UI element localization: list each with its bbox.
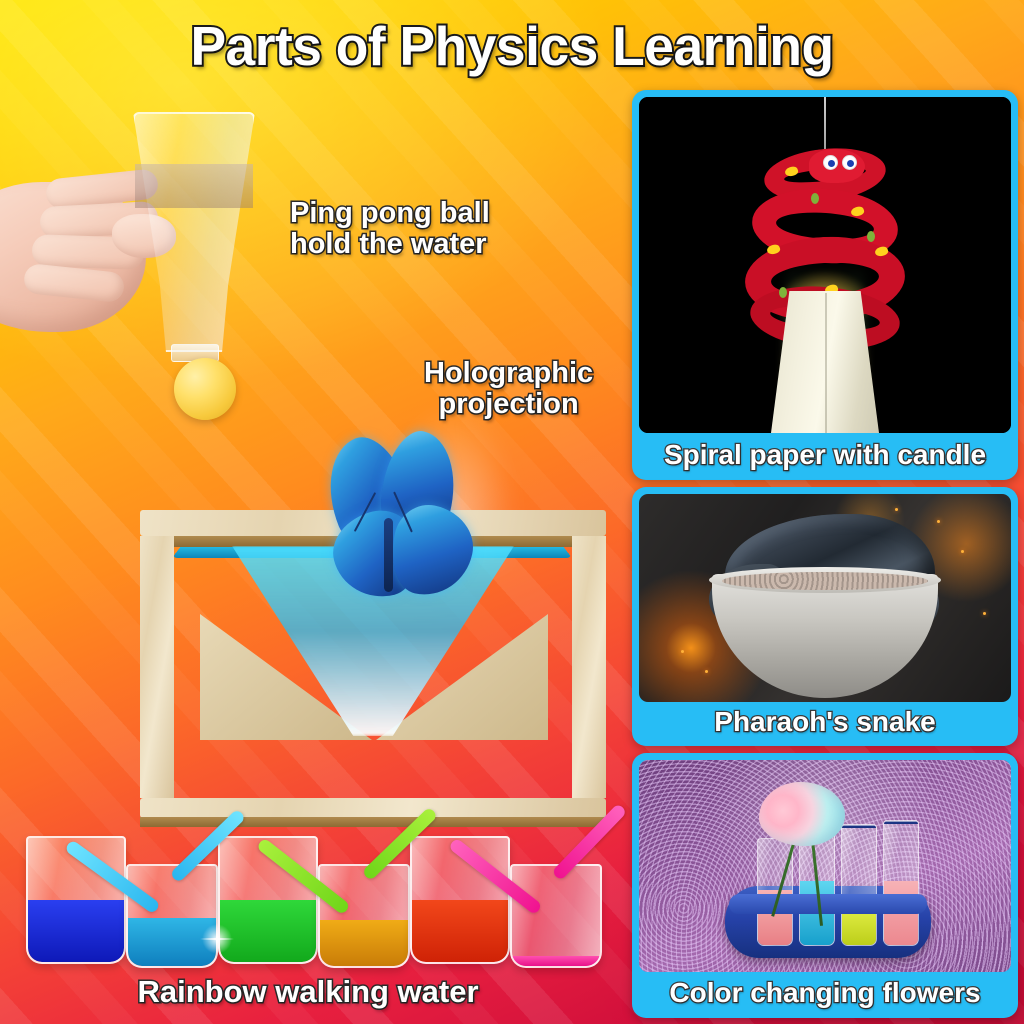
panel-pharaoh-photo	[639, 494, 1011, 702]
ember-spark-4	[961, 550, 964, 553]
rainbow-walking-water-label: Rainbow walking water	[0, 974, 616, 1010]
spiral-snake-scene	[639, 97, 1011, 433]
test-tube-3-cap-ring	[841, 824, 877, 826]
panel-pharaoh-caption: Pharaoh's snake	[632, 699, 1018, 746]
water-cup-3-liquid	[220, 900, 316, 962]
callout-holo-line1: Holographic	[424, 358, 593, 389]
rose-flower	[759, 782, 845, 846]
water-cup-4	[318, 864, 410, 968]
panel-spiral-caption: Spiral paper with candle	[632, 430, 1018, 480]
projector-base	[140, 798, 606, 818]
snake-eye-left	[823, 155, 838, 170]
page-title: Parts of Physics Learning	[15, 14, 1008, 78]
projector-leg-left	[140, 536, 174, 798]
test-tube-3	[841, 824, 877, 946]
panel-spiral-photo	[639, 97, 1011, 433]
ping-pong-ball-experiment-image	[0, 96, 320, 456]
ember-spark-6	[983, 612, 986, 615]
water-surface	[135, 164, 253, 208]
butterfly-hologram	[298, 432, 478, 612]
water-cup-6	[510, 864, 602, 968]
bowl-sand	[722, 572, 928, 590]
projector-leg-right	[572, 536, 606, 798]
panel-spiral-paper-with-candle[interactable]: Spiral paper with candle	[632, 90, 1018, 480]
test-tube-rack-top	[728, 894, 927, 914]
ember-spark-3	[937, 520, 940, 523]
callout-ping-pong-line2: hold the water	[290, 229, 490, 260]
test-tube-4	[883, 820, 919, 946]
paper-cup-seam	[825, 293, 827, 433]
callout-holographic-projection: Holographic projection	[424, 358, 593, 421]
callout-holo-line2: projection	[424, 389, 593, 420]
leaf-pattern-1	[811, 193, 819, 204]
butterfly-body	[384, 518, 393, 592]
ember-spark-1	[681, 650, 684, 653]
ping-pong-ball	[174, 358, 236, 420]
snake-eye-right	[842, 155, 857, 170]
panel-color-changing-flowers[interactable]: Color changing flowers	[632, 753, 1018, 1018]
ember-spark-2	[705, 670, 708, 673]
callout-ping-pong-ball: Ping pong ball hold the water	[290, 198, 490, 261]
holographic-projector-image	[140, 418, 630, 818]
test-tube-1	[757, 838, 793, 946]
poster-canvas: Parts of Physics Learning Ping pong ball…	[0, 0, 1024, 1024]
ember-spark-5	[895, 508, 898, 511]
callout-ping-pong-line1: Ping pong ball	[290, 198, 490, 229]
water-cup-6-liquid	[512, 956, 600, 966]
water-cup-1-liquid	[28, 900, 124, 962]
leaf-pattern-3	[779, 287, 787, 298]
leaf-pattern-2	[867, 231, 875, 242]
panel-flowers-photo	[639, 760, 1011, 972]
water-cup-5-liquid	[412, 900, 508, 962]
snake-head	[809, 149, 865, 183]
panel-pharaohs-snake[interactable]: Pharaoh's snake	[632, 487, 1018, 746]
test-tube-4-cap-ring	[883, 820, 919, 822]
rainbow-walking-water-image	[4, 826, 616, 972]
water-cup-4-liquid	[320, 920, 408, 966]
panel-flowers-caption: Color changing flowers	[632, 969, 1018, 1018]
sparkle-glint	[200, 922, 234, 956]
